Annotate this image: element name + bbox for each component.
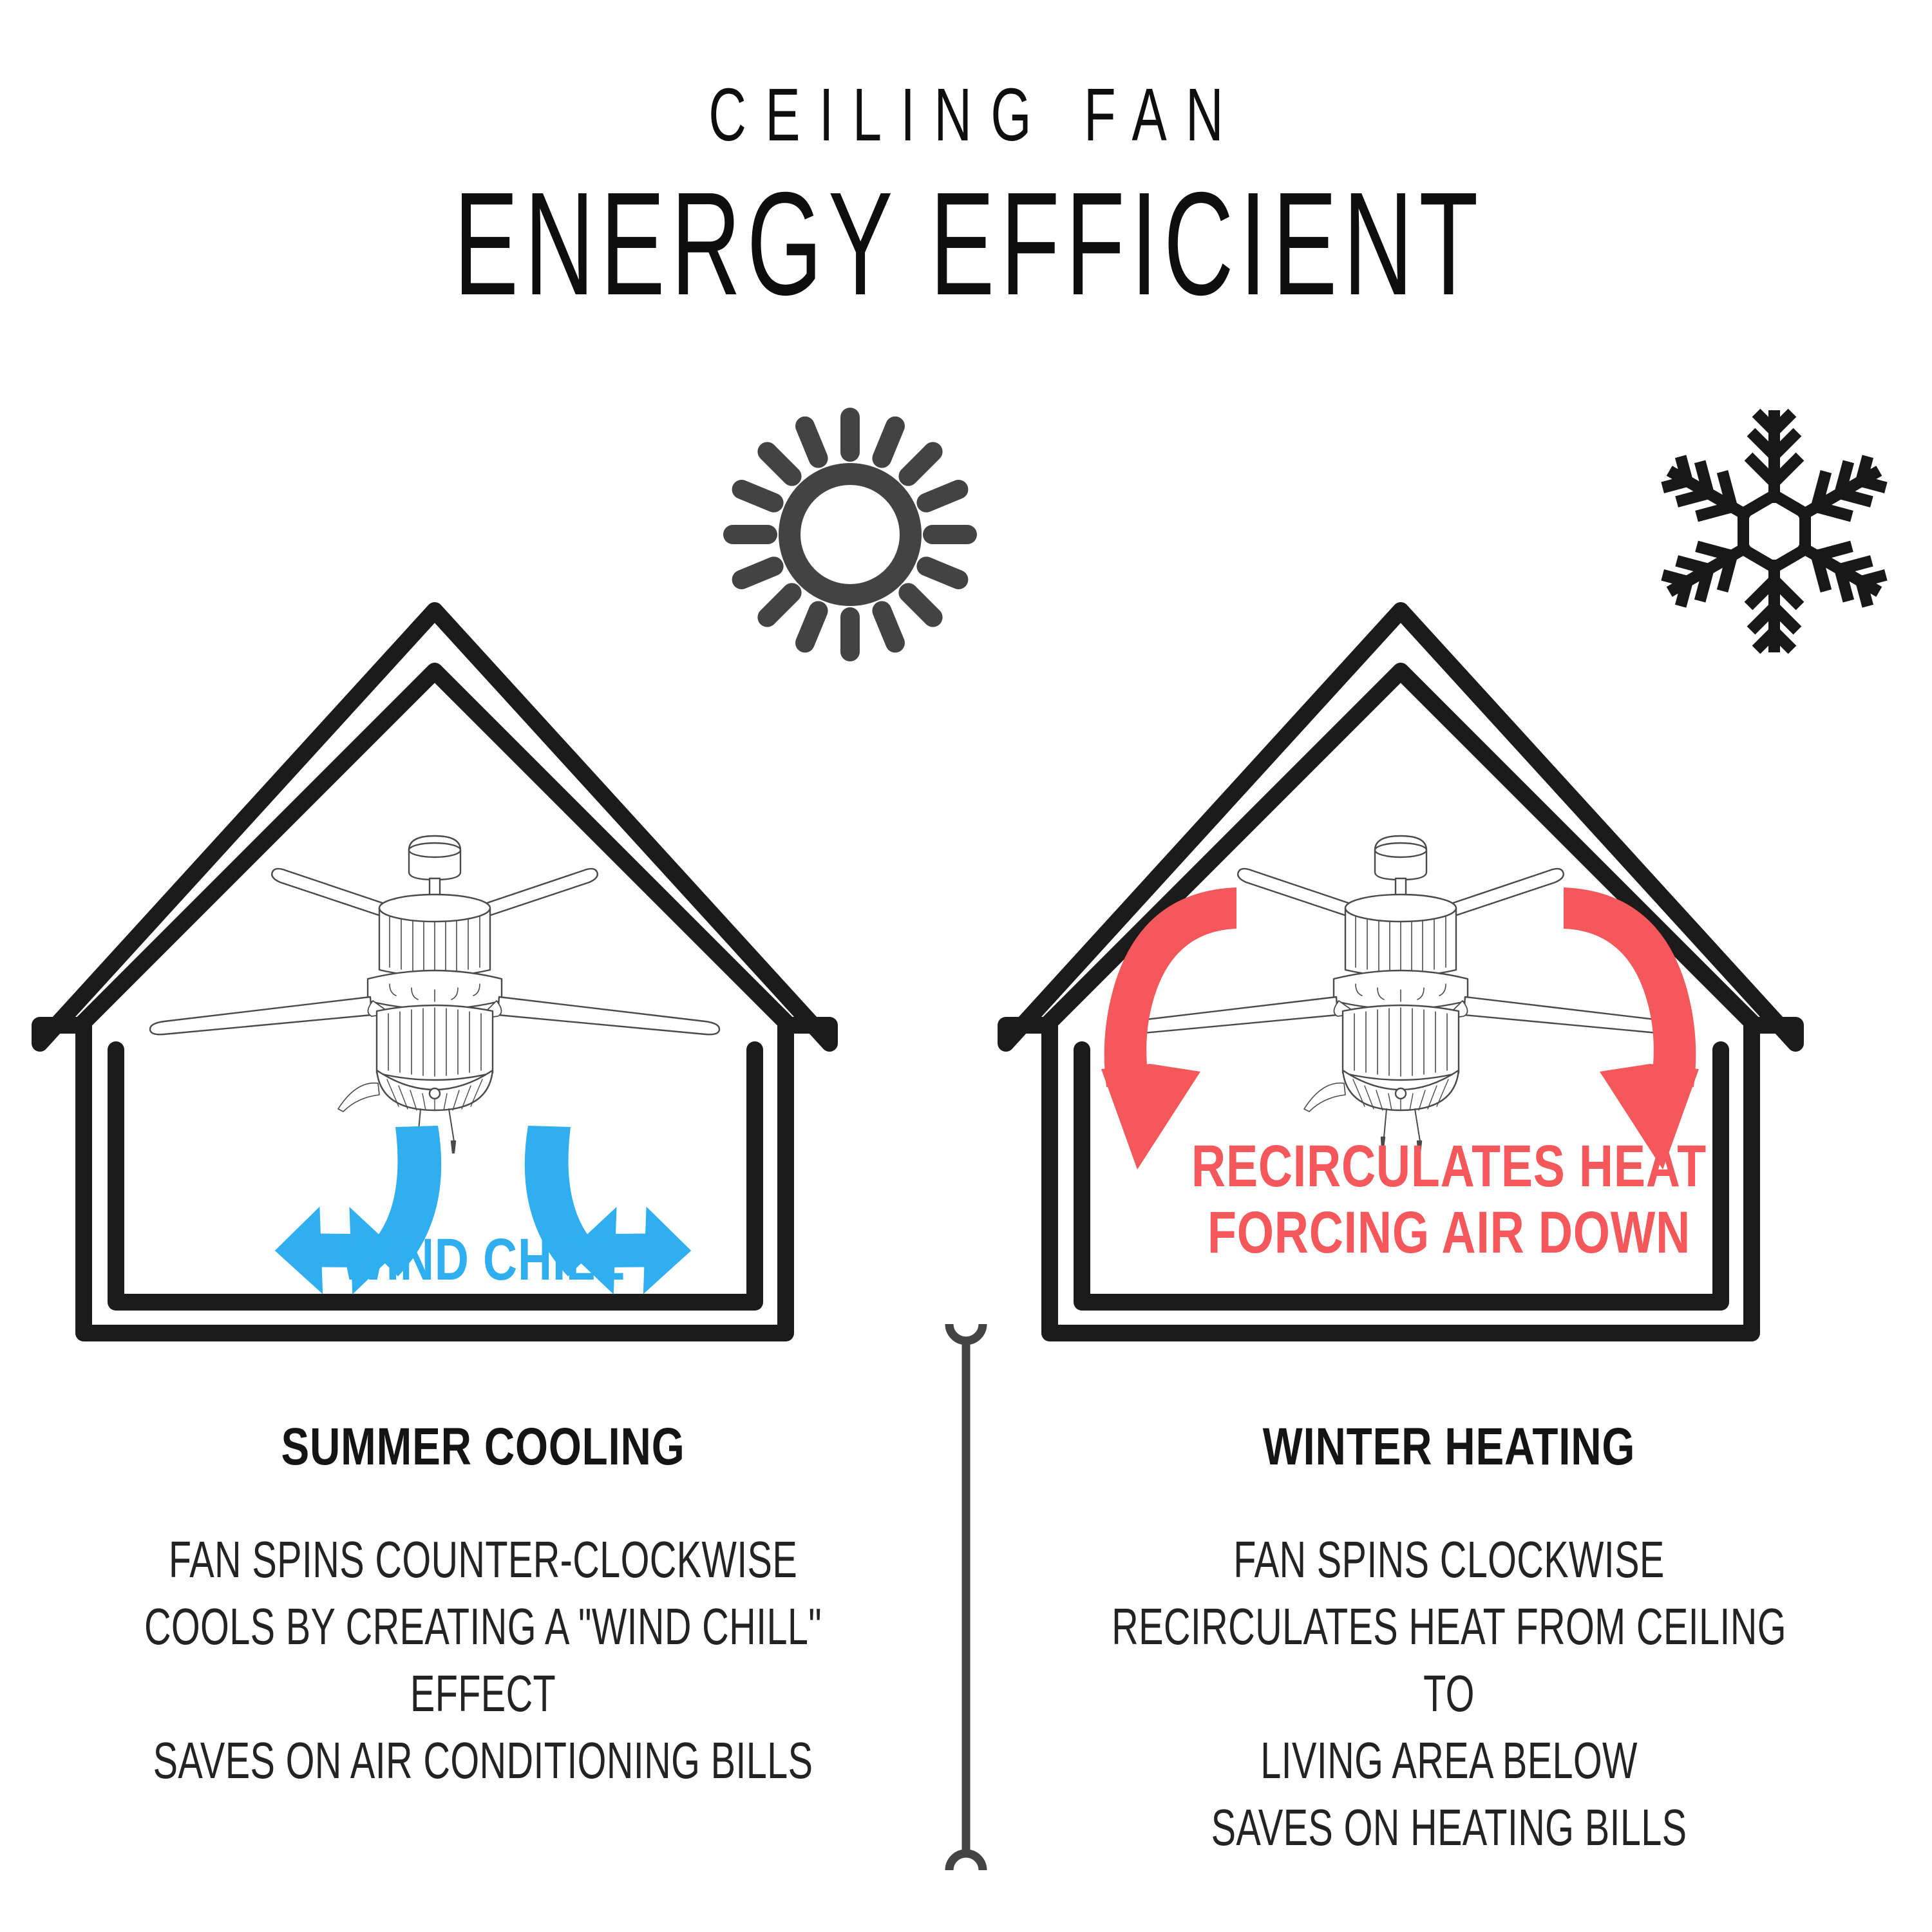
airflow-label-recirculates-heat: RECIRCULATES HEAT FORCING AIR DOWN — [1063, 1133, 1835, 1266]
panel-summer: WIND CHILL SUMMER COOLING FAN SPINS COUN… — [0, 0, 966, 1932]
panel-winter: RECIRCULATES HEAT FORCING AIR DOWN WINTE… — [966, 0, 1932, 1932]
caption-title-winter: WINTER HEATING — [1063, 1417, 1835, 1477]
airflow-label-wind-chill: WIND CHILL — [97, 1227, 869, 1293]
caption-title-summer: SUMMER COOLING — [97, 1417, 869, 1477]
vertical-divider-with-round-caps — [921, 1320, 1011, 1874]
infographic-canvas: CEILING FAN ENERGY EFFICIENT — [0, 0, 1932, 1932]
caption-body-summer: FAN SPINS COUNTER-CLOCKWISE COOLS BY CRE… — [135, 1526, 831, 1794]
caption-body-winter: FAN SPINS CLOCKWISE RECIRCULATES HEAT FR… — [1101, 1526, 1797, 1861]
